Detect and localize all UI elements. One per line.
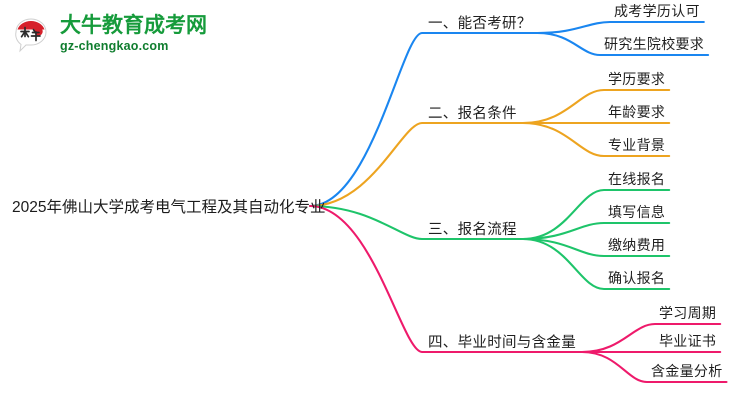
mindmap-leaf-1-1[interactable]: 成考学历认可 bbox=[614, 1, 700, 21]
mindmap-leaf-2-3[interactable]: 专业背景 bbox=[608, 135, 665, 155]
mindmap-branch-label-1[interactable]: 一、能否考研？ bbox=[428, 11, 532, 33]
mindmap-branch-label-2[interactable]: 二、报名条件 bbox=[428, 101, 517, 123]
mindmap-leaf-3-1[interactable]: 在线报名 bbox=[608, 169, 665, 189]
mindmap-canvas: 大牛教育成考网 gz-chengkao.com 2025年佛山大学成考电气工程及… bbox=[0, 0, 750, 410]
logo-title: 大牛教育成考网 bbox=[60, 15, 207, 36]
mindmap-leaf-4-1[interactable]: 学习周期 bbox=[659, 303, 716, 323]
mindmap-leaf-4-2[interactable]: 毕业证书 bbox=[659, 331, 716, 351]
mindmap-leaf-2-2[interactable]: 年龄要求 bbox=[608, 102, 665, 122]
mindmap-leaf-3-2[interactable]: 填写信息 bbox=[608, 202, 665, 222]
mindmap-leaf-3-3[interactable]: 缴纳费用 bbox=[608, 235, 665, 255]
site-logo[interactable]: 大牛教育成考网 gz-chengkao.com bbox=[8, 8, 204, 60]
mindmap-leaf-2-1[interactable]: 学历要求 bbox=[608, 69, 665, 89]
mindmap-branch-label-4[interactable]: 四、毕业时间与含金量 bbox=[428, 330, 576, 352]
mindmap-branch-label-3[interactable]: 三、报名流程 bbox=[428, 217, 517, 239]
mindmap-leaf-1-2[interactable]: 研究生院校要求 bbox=[604, 34, 704, 54]
logo-domain: gz-chengkao.com bbox=[60, 40, 207, 53]
mindmap-leaf-3-4[interactable]: 确认报名 bbox=[608, 268, 665, 288]
mindmap-root-node[interactable]: 2025年佛山大学成考电气工程及其自动化专业 bbox=[12, 194, 304, 218]
mindmap-leaf-4-3[interactable]: 含金量分析 bbox=[651, 361, 723, 381]
daniu-cow-speech-bubble-logo bbox=[8, 11, 54, 57]
